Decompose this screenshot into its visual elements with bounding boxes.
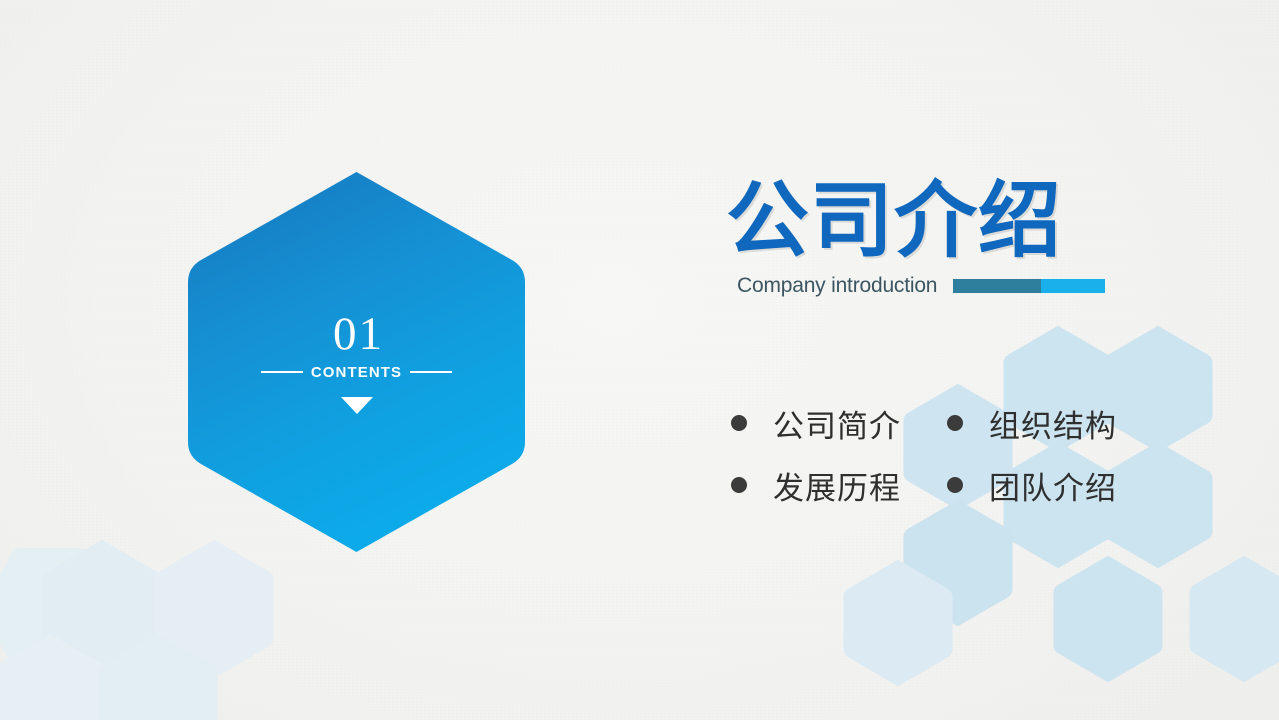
contents-label: CONTENTS <box>311 364 402 381</box>
bullet-dot-icon <box>947 415 963 431</box>
contents-rule-left <box>261 371 303 373</box>
list-item-label: 公司简介 <box>773 401 901 446</box>
section-number: 01 <box>333 311 384 358</box>
decor-hexagon-bl-4 <box>0 630 114 720</box>
section-marker-content: 01 CONTENTS <box>184 168 529 556</box>
header-block: 公司介绍 Company introduction <box>726 181 1246 298</box>
decor-hexagon-bl-3 <box>150 536 278 682</box>
bullet-dot-icon <box>731 477 747 493</box>
decor-hexagon-r-8 <box>1186 552 1279 686</box>
slide-canvas: 01 CONTENTS 公司介绍 Company introduction 公司… <box>0 0 1279 720</box>
list-item[interactable]: 组织结构 <box>947 392 1163 454</box>
decor-hexagon-r-7 <box>1050 552 1166 686</box>
contents-rule-right <box>410 371 452 373</box>
list-item-label: 组织结构 <box>989 401 1117 446</box>
decor-hexagon-r-9 <box>840 556 956 690</box>
decor-hexagon-bl-1 <box>0 536 114 682</box>
bullet-dot-icon <box>731 415 747 431</box>
chevron-down-icon <box>341 397 373 414</box>
contents-label-row: CONTENTS <box>261 364 452 381</box>
page-subtitle: Company introduction <box>737 274 937 298</box>
accent-bar-light-segment <box>1041 279 1105 293</box>
accent-bar-dark-segment <box>953 279 1041 293</box>
page-title: 公司介绍 <box>726 181 1246 262</box>
list-item[interactable]: 公司简介 <box>731 392 947 454</box>
list-item-label: 发展历程 <box>773 463 901 508</box>
list-item[interactable]: 发展历程 <box>731 454 947 516</box>
decor-hexagon-bl-5 <box>94 630 222 720</box>
list-item[interactable]: 团队介绍 <box>947 454 1163 516</box>
section-marker-hexagon[interactable]: 01 CONTENTS <box>184 168 529 556</box>
decor-hexagon-bl-2 <box>38 536 166 682</box>
decor-hexagon-r-6 <box>900 496 1016 630</box>
bullet-dot-icon <box>947 477 963 493</box>
subtitle-row: Company introduction <box>737 274 1246 298</box>
list-item-label: 团队介绍 <box>989 463 1117 508</box>
accent-bar <box>953 279 1105 293</box>
contents-list: 公司简介 组织结构 发展历程 团队介绍 <box>731 392 1201 516</box>
